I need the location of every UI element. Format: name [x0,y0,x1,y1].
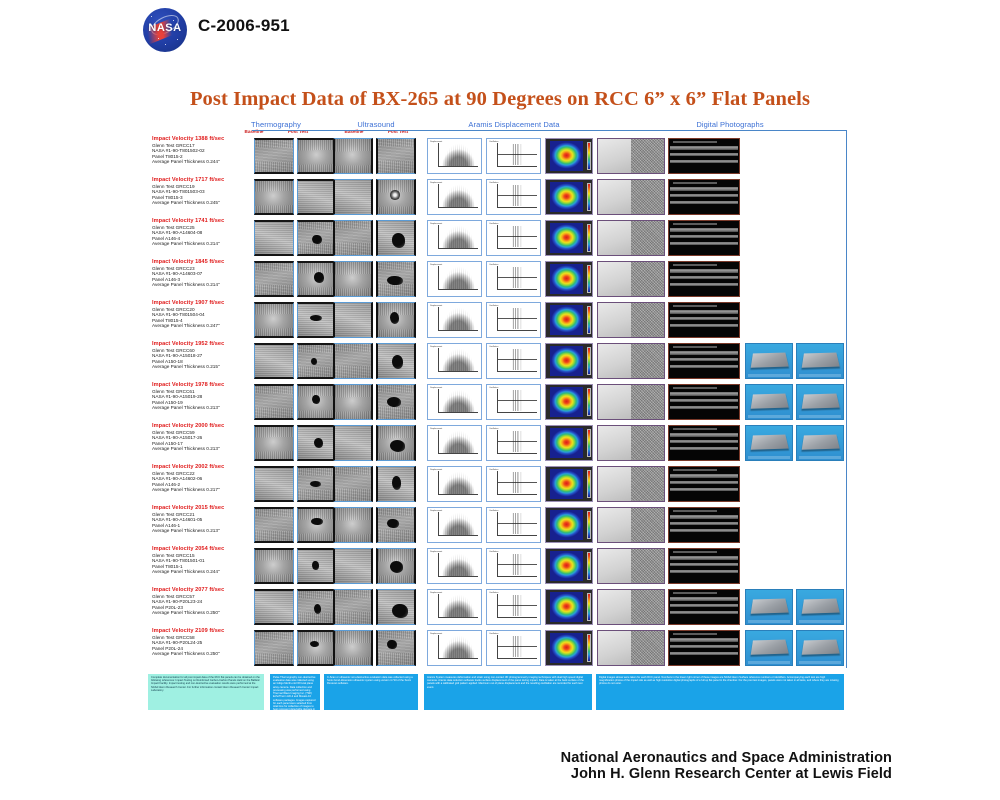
panel-photo-3d-right[interactable] [796,343,844,379]
table-row[interactable]: Impact Velocity 2002 ft/secGlenn Test GR… [0,464,1000,505]
aramis-contour-heatmap[interactable] [545,179,593,215]
aramis-contour-heatmap[interactable] [545,630,593,666]
row-info: Impact Velocity 1741 ft/secGlenn Test GR… [152,218,248,247]
aramis-contour-heatmap[interactable] [545,425,593,461]
column-header-photographs: Digital Photographs [640,120,820,129]
ultrasound-baseline-image[interactable] [333,630,373,666]
digital-photo-panel-wide[interactable] [668,466,740,502]
thermography-baseline-image[interactable] [254,507,294,543]
table-row[interactable]: Impact Velocity 1388 ft/secGlenn Test GR… [0,136,1000,177]
row-thickness: Average Panel Thickness 0.245" [152,200,248,206]
digital-photo-panel-wide[interactable] [668,343,740,379]
aramis-oscillation-plot[interactable]: Oscillation [486,425,541,461]
digital-photo-panel-wide[interactable] [668,261,740,297]
aramis-oscillation-plot[interactable]: Oscillation [486,548,541,584]
thermography-posttest-image[interactable] [297,466,337,502]
aramis-displacement-plot[interactable]: Displacement [427,548,482,584]
ultrasound-baseline-image[interactable] [333,507,373,543]
aramis-oscillation-plot[interactable]: Oscillation [486,630,541,666]
digital-photo-pair[interactable] [597,302,665,338]
aramis-oscillation-plot[interactable]: Oscillation [486,138,541,174]
aramis-oscillation-plot[interactable]: Oscillation [486,220,541,256]
aramis-displacement-plot[interactable]: Displacement [427,220,482,256]
column-header-thermography: Thermography [232,120,320,129]
nasa-wordmark: NASA [143,22,187,34]
row-impact-velocity: Impact Velocity 1717 ft/sec [152,177,248,184]
thermography-posttest-image[interactable] [297,261,337,297]
aramis-contour-heatmap[interactable] [545,302,593,338]
ultrasound-baseline-image[interactable] [333,179,373,215]
digital-photo-pair[interactable] [597,507,665,543]
column-header-aramis: Aramis Displacement Data [434,120,594,129]
caption-references: Complete documentation for all post impa… [148,674,264,710]
table-row[interactable]: Impact Velocity 1907 ft/secGlenn Test GR… [0,300,1000,341]
row-info: Impact Velocity 1978 ft/secGlenn Test GR… [152,382,248,411]
row-thickness: Average Panel Thickness 0.214" [152,282,248,288]
digital-photo-panel-wide[interactable] [668,548,740,584]
row-thickness: Average Panel Thickness 0.213" [152,528,248,534]
thermography-baseline-image[interactable] [254,466,294,502]
aramis-contour-heatmap[interactable] [545,261,593,297]
ultrasound-baseline-image[interactable] [333,425,373,461]
row-thickness: Average Panel Thickness 0.214" [152,241,248,247]
thermography-posttest-image[interactable] [297,589,337,625]
ultrasound-posttest-image[interactable] [376,589,416,625]
digital-photo-panel-wide[interactable] [668,179,740,215]
aramis-oscillation-plot[interactable]: Oscillation [486,507,541,543]
aramis-oscillation-plot[interactable]: Oscillation [486,466,541,502]
thermography-baseline-image[interactable] [254,548,294,584]
digital-photo-pair[interactable] [597,548,665,584]
aramis-displacement-plot[interactable]: Displacement [427,302,482,338]
row-info: Impact Velocity 1907 ft/secGlenn Test GR… [152,300,248,329]
caption-aramis: Aramis System measures deformation and s… [424,674,592,710]
aramis-displacement-plot[interactable]: Displacement [427,425,482,461]
thermography-baseline-image[interactable] [254,179,294,215]
ultrasound-posttest-image[interactable] [376,384,416,420]
digital-photo-pair[interactable] [597,466,665,502]
table-row[interactable]: Impact Velocity 1978 ft/secGlenn Test GR… [0,382,1000,423]
ultrasound-posttest-image[interactable] [376,179,416,215]
row-thickness: Average Panel Thickness 0.247" [152,323,248,329]
digital-photo-pair[interactable] [597,138,665,174]
thermography-baseline-image[interactable] [254,384,294,420]
row-info: Impact Velocity 2000 ft/secGlenn Test GR… [152,423,248,452]
row-thickness: Average Panel Thickness 0.213" [152,446,248,452]
row-impact-velocity: Impact Velocity 2002 ft/sec [152,464,248,471]
aramis-oscillation-plot[interactable]: Oscillation [486,343,541,379]
thermography-posttest-image[interactable] [297,425,337,461]
ultrasound-baseline-image[interactable] [333,343,373,379]
digital-photo-pair[interactable] [597,261,665,297]
digital-photo-panel-wide[interactable] [668,589,740,625]
row-thickness: Average Panel Thickness 0.244" [152,159,248,165]
aramis-oscillation-plot[interactable]: Oscillation [486,589,541,625]
caption-ultrasound: C-Scan or ultrasonic non-destructive eva… [324,674,418,710]
aramis-displacement-plot[interactable]: Displacement [427,589,482,625]
thermography-posttest-image[interactable] [297,179,337,215]
table-row[interactable]: Impact Velocity 1717 ft/secGlenn Test GR… [0,177,1000,218]
poster-page: NASA C-2006-951 Post Impact Data of BX-2… [0,0,1000,800]
panel-photo-3d-right[interactable] [796,425,844,461]
row-info: Impact Velocity 2002 ft/secGlenn Test GR… [152,464,248,493]
aramis-displacement-plot[interactable]: Displacement [427,179,482,215]
ultrasound-posttest-image[interactable] [376,302,416,338]
thermography-posttest-image[interactable] [297,138,337,174]
thermography-posttest-image[interactable] [297,630,337,666]
table-row[interactable]: Impact Velocity 2000 ft/secGlenn Test GR… [0,423,1000,464]
row-info: Impact Velocity 1845 ft/secGlenn Test GR… [152,259,248,288]
ultrasound-baseline-image[interactable] [333,384,373,420]
aramis-displacement-plot[interactable]: Displacement [427,507,482,543]
aramis-contour-heatmap[interactable] [545,548,593,584]
digital-photo-pair[interactable] [597,220,665,256]
caption-photographs: Digital images above were taken for each… [596,674,844,710]
thermography-baseline-image[interactable] [254,425,294,461]
ultrasound-posttest-image[interactable] [376,466,416,502]
footer-line-1: National Aeronautics and Space Administr… [70,750,892,766]
row-info: Impact Velocity 2109 ft/secGlenn Test GR… [152,628,248,657]
ultrasound-posttest-image[interactable] [376,507,416,543]
ultrasound-baseline-image[interactable] [333,261,373,297]
row-thickness: Average Panel Thickness 0.244" [152,569,248,575]
thermography-baseline-image[interactable] [254,220,294,256]
digital-photo-pair[interactable] [597,343,665,379]
row-impact-velocity: Impact Velocity 1388 ft/sec [152,136,248,143]
row-impact-velocity: Impact Velocity 1741 ft/sec [152,218,248,225]
row-impact-velocity: Impact Velocity 2015 ft/sec [152,505,248,512]
digital-photo-pair[interactable] [597,384,665,420]
ultrasound-baseline-image[interactable] [333,466,373,502]
ultrasound-posttest-image[interactable] [376,261,416,297]
thermography-posttest-image[interactable] [297,507,337,543]
row-impact-velocity: Impact Velocity 1978 ft/sec [152,382,248,389]
row-thickness: Average Panel Thickness 0.250" [152,651,248,657]
ultrasound-baseline-image[interactable] [333,589,373,625]
aramis-oscillation-plot[interactable]: Oscillation [486,384,541,420]
panel-photo-3d-left[interactable] [745,630,793,666]
aramis-oscillation-plot[interactable]: Oscillation [486,179,541,215]
document-id: C-2006-951 [198,16,290,36]
row-info: Impact Velocity 1952 ft/secGlenn Test GR… [152,341,248,370]
aramis-contour-heatmap[interactable] [545,138,593,174]
row-thickness: Average Panel Thickness 0.250" [152,610,248,616]
thermography-baseline-image[interactable] [254,589,294,625]
page-title: Post Impact Data of BX-265 at 90 Degrees… [0,88,1000,111]
nasa-logo-icon: NASA [143,8,187,52]
aramis-oscillation-plot[interactable]: Oscillation [486,302,541,338]
ultrasound-posttest-image[interactable] [376,548,416,584]
aramis-displacement-plot[interactable]: Displacement [427,261,482,297]
row-impact-velocity: Impact Velocity 2109 ft/sec [152,628,248,635]
thermography-posttest-image[interactable] [297,302,337,338]
digital-photo-panel-wide[interactable] [668,138,740,174]
subhead-ultrasound-posttest: Post Test [376,129,420,134]
digital-photo-pair[interactable] [597,425,665,461]
row-impact-velocity: Impact Velocity 2077 ft/sec [152,587,248,594]
row-info: Impact Velocity 1717 ft/secGlenn Test GR… [152,177,248,206]
subhead-thermography-posttest: Post Test [276,129,320,134]
row-impact-velocity: Impact Velocity 1845 ft/sec [152,259,248,266]
aramis-contour-heatmap[interactable] [545,343,593,379]
aramis-displacement-plot[interactable]: Displacement [427,138,482,174]
column-header-ultrasound: Ultrasound [332,120,420,129]
poster-header: NASA C-2006-951 [0,0,1000,60]
subhead-ultrasound-baseline: Baseline [332,129,376,134]
aramis-displacement-plot[interactable]: Displacement [427,384,482,420]
digital-photo-panel-wide[interactable] [668,425,740,461]
aramis-contour-heatmap[interactable] [545,507,593,543]
panel-photo-3d-left[interactable] [745,425,793,461]
panel-photo-3d-right[interactable] [796,589,844,625]
table-row[interactable]: Impact Velocity 1845 ft/secGlenn Test GR… [0,259,1000,300]
aramis-displacement-plot[interactable]: Displacement [427,343,482,379]
ultrasound-baseline-image[interactable] [333,302,373,338]
digital-photo-pair[interactable] [597,589,665,625]
row-impact-velocity: Impact Velocity 1907 ft/sec [152,300,248,307]
table-row[interactable]: Impact Velocity 2109 ft/secGlenn Test GR… [0,628,1000,669]
thermography-baseline-image[interactable] [254,343,294,379]
table-row[interactable]: Impact Velocity 2015 ft/secGlenn Test GR… [0,505,1000,546]
thermography-baseline-image[interactable] [254,138,294,174]
subhead-thermography-baseline: Baseline [232,129,276,134]
digital-photo-panel-wide[interactable] [668,384,740,420]
thermography-baseline-image[interactable] [254,302,294,338]
row-thickness: Average Panel Thickness 0.215" [152,364,248,370]
digital-photo-panel-wide[interactable] [668,220,740,256]
thermography-posttest-image[interactable] [297,384,337,420]
row-thickness: Average Panel Thickness 0.217" [152,487,248,493]
table-row[interactable]: Impact Velocity 2054 ft/secGlenn Test GR… [0,546,1000,587]
table-row[interactable]: Impact Velocity 1741 ft/secGlenn Test GR… [0,218,1000,259]
digital-photo-panel-wide[interactable] [668,302,740,338]
digital-photo-pair[interactable] [597,179,665,215]
row-thickness: Average Panel Thickness 0.213" [152,405,248,411]
panel-photo-3d-right[interactable] [796,630,844,666]
table-row[interactable]: Impact Velocity 2077 ft/secGlenn Test GR… [0,587,1000,628]
digital-photo-panel-wide[interactable] [668,507,740,543]
aramis-contour-heatmap[interactable] [545,466,593,502]
thermography-posttest-image[interactable] [297,220,337,256]
aramis-displacement-plot[interactable]: Displacement [427,466,482,502]
aramis-contour-heatmap[interactable] [545,589,593,625]
ultrasound-baseline-image[interactable] [333,220,373,256]
row-impact-velocity: Impact Velocity 1952 ft/sec [152,341,248,348]
panel-photo-3d-left[interactable] [745,384,793,420]
row-info: Impact Velocity 2077 ft/secGlenn Test GR… [152,587,248,616]
digital-photo-panel-wide[interactable] [668,630,740,666]
aramis-oscillation-plot[interactable]: Oscillation [486,261,541,297]
footer-line-2: John H. Glenn Research Center at Lewis F… [70,766,892,782]
thermography-baseline-image[interactable] [254,261,294,297]
digital-photo-pair[interactable] [597,630,665,666]
row-impact-velocity: Impact Velocity 2000 ft/sec [152,423,248,430]
thermography-posttest-image[interactable] [297,343,337,379]
row-info: Impact Velocity 1388 ft/secGlenn Test GR… [152,136,248,165]
ultrasound-posttest-image[interactable] [376,630,416,666]
data-grid: Impact Velocity 1388 ft/secGlenn Test GR… [0,136,1000,668]
panel-photo-3d-left[interactable] [745,343,793,379]
panel-photo-3d-right[interactable] [796,384,844,420]
row-info: Impact Velocity 2054 ft/secGlenn Test GR… [152,546,248,575]
caption-thermography: Pulse Thermography non-destructive evalu… [270,674,320,710]
aramis-displacement-plot[interactable]: Displacement [427,630,482,666]
table-row[interactable]: Impact Velocity 1952 ft/secGlenn Test GR… [0,341,1000,382]
poster-footer: National Aeronautics and Space Administr… [0,750,1000,782]
aramis-contour-heatmap[interactable] [545,384,593,420]
thermography-baseline-image[interactable] [254,630,294,666]
row-impact-velocity: Impact Velocity 2054 ft/sec [152,546,248,553]
ultrasound-posttest-image[interactable] [376,220,416,256]
thermography-posttest-image[interactable] [297,548,337,584]
aramis-contour-heatmap[interactable] [545,220,593,256]
panel-photo-3d-left[interactable] [745,589,793,625]
ultrasound-posttest-image[interactable] [376,343,416,379]
ultrasound-posttest-image[interactable] [376,138,416,174]
ultrasound-posttest-image[interactable] [376,425,416,461]
row-info: Impact Velocity 2015 ft/secGlenn Test GR… [152,505,248,534]
ultrasound-baseline-image[interactable] [333,138,373,174]
ultrasound-baseline-image[interactable] [333,548,373,584]
